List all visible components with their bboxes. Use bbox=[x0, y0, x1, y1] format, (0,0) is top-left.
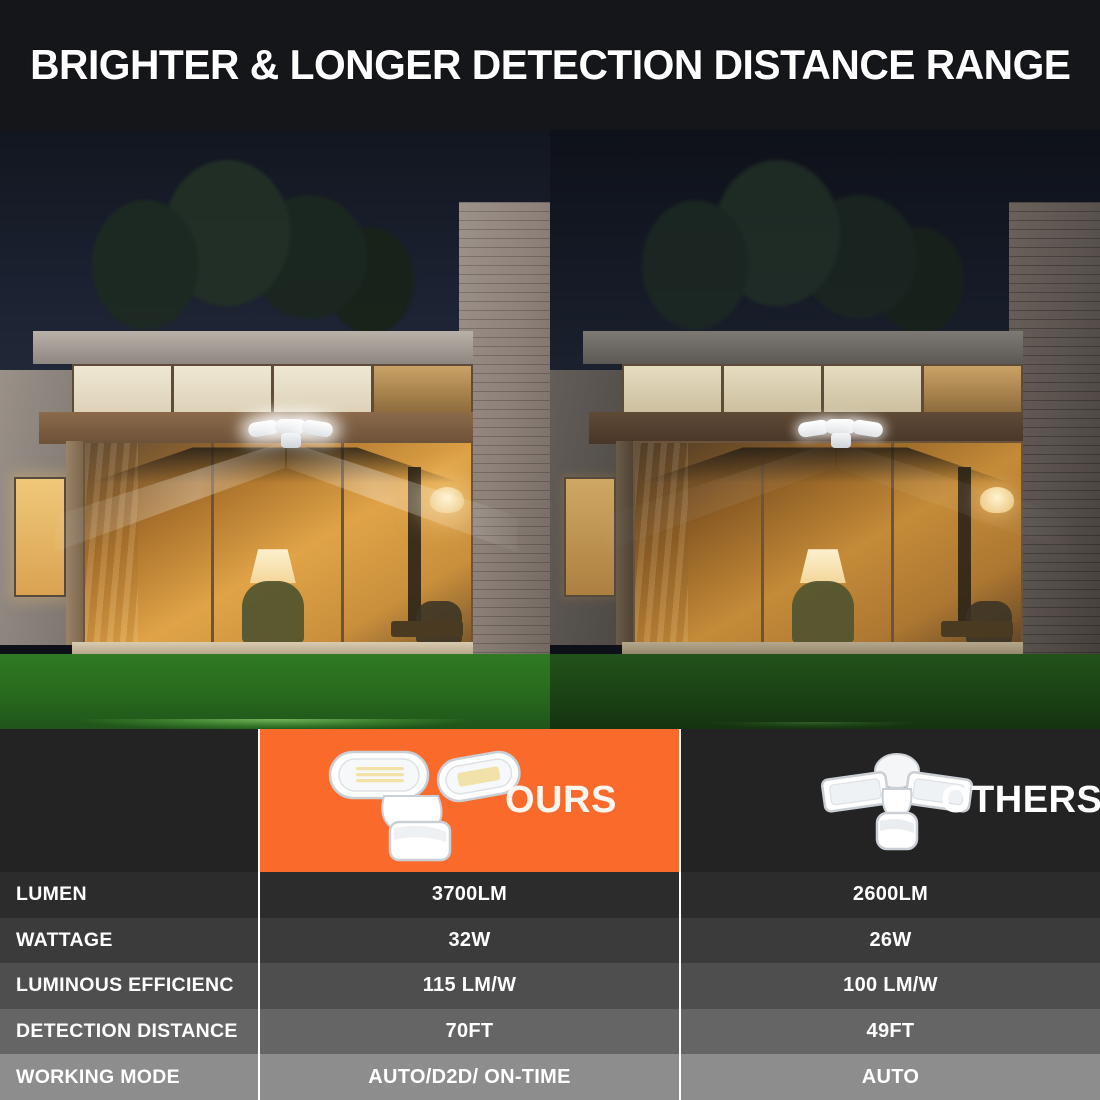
lawn bbox=[550, 654, 1100, 729]
pendant-lamp bbox=[980, 487, 1014, 513]
title-band: BRIGHTER & LONGER DETECTION DISTANCE RAN… bbox=[0, 0, 1100, 130]
table-lamp bbox=[800, 549, 846, 583]
clerestory-windows bbox=[72, 364, 474, 415]
motion-sensor bbox=[831, 433, 851, 448]
lawn bbox=[0, 654, 550, 729]
table-row: WORKING MODE AUTO/D2D/ ON-TIME AUTO bbox=[0, 1054, 1100, 1100]
vertical-post bbox=[66, 441, 84, 645]
roof-slab bbox=[583, 331, 1023, 364]
product-comparison-poster: BRIGHTER & LONGER DETECTION DISTANCE RAN… bbox=[0, 0, 1100, 1100]
comparison-table: OURS bbox=[0, 729, 1100, 1100]
ours-value: 115 LM/W bbox=[258, 963, 681, 1009]
lawn-light-pool bbox=[671, 722, 957, 729]
transom-pane bbox=[724, 366, 824, 413]
spec-label: WORKING MODE bbox=[0, 1054, 258, 1100]
vertical-post bbox=[616, 441, 634, 645]
interior-column bbox=[958, 467, 971, 623]
interior-column bbox=[408, 467, 421, 623]
armchair bbox=[792, 581, 854, 643]
table-row: WATTAGE 32W 26W bbox=[0, 918, 1100, 964]
spec-label: LUMINOUS EFFICIENC bbox=[0, 963, 258, 1009]
page-title: BRIGHTER & LONGER DETECTION DISTANCE RAN… bbox=[30, 41, 1070, 89]
others-header-cell: OTHERS bbox=[681, 729, 1100, 872]
transom-pane bbox=[174, 366, 274, 413]
treeline bbox=[77, 142, 418, 340]
transom-pane bbox=[274, 366, 374, 413]
table-lamp bbox=[250, 549, 296, 583]
photo-comparison-strip bbox=[0, 130, 1100, 729]
ours-value: 32W bbox=[258, 918, 681, 964]
bench bbox=[941, 621, 1013, 637]
table-row: LUMINOUS EFFICIENC 115 LM/W 100 LM/W bbox=[0, 963, 1100, 1009]
roof-slab bbox=[33, 331, 473, 364]
transom-pane bbox=[924, 366, 1021, 413]
motion-sensor bbox=[281, 433, 301, 448]
ours-value: 70FT bbox=[258, 1009, 681, 1055]
transom-pane bbox=[374, 366, 471, 413]
transom-pane bbox=[624, 366, 724, 413]
others-value: 26W bbox=[681, 918, 1100, 964]
treeline bbox=[627, 142, 968, 340]
spec-label: WATTAGE bbox=[0, 918, 258, 964]
clerestory-windows bbox=[622, 364, 1024, 415]
ours-value: 3700LM bbox=[258, 872, 681, 918]
lawn-light-pool bbox=[33, 719, 517, 729]
lamp-head-right bbox=[851, 418, 884, 438]
security-light-fixture bbox=[798, 421, 882, 447]
bench bbox=[391, 621, 463, 637]
ours-header-cell: OURS bbox=[258, 729, 681, 872]
table-row: LUMEN 3700LM 2600LM bbox=[0, 872, 1100, 918]
lamp-head-right bbox=[301, 418, 334, 438]
spec-label: DETECTION DISTANCE bbox=[0, 1009, 258, 1055]
spec-header-cell bbox=[0, 729, 258, 872]
transom-pane bbox=[824, 366, 924, 413]
armchair bbox=[242, 581, 304, 643]
table-header-row: OURS bbox=[0, 729, 1100, 872]
others-value: 49FT bbox=[681, 1009, 1100, 1055]
photo-ours-night-scene bbox=[0, 130, 550, 729]
left-window bbox=[14, 477, 66, 597]
others-value: AUTO bbox=[681, 1054, 1100, 1100]
others-value: 100 LM/W bbox=[681, 963, 1100, 1009]
transom-pane bbox=[74, 366, 174, 413]
spec-label: LUMEN bbox=[0, 872, 258, 918]
photo-others-night-scene bbox=[550, 130, 1100, 729]
others-value: 2600LM bbox=[681, 872, 1100, 918]
ours-value: AUTO/D2D/ ON-TIME bbox=[258, 1054, 681, 1100]
lamp-head-center bbox=[825, 419, 856, 434]
lamp-head-center bbox=[275, 419, 306, 434]
table-row: DETECTION DISTANCE 70FT 49FT bbox=[0, 1009, 1100, 1055]
left-window bbox=[564, 477, 616, 597]
security-light-fixture bbox=[248, 421, 332, 447]
pendant-lamp bbox=[430, 487, 464, 513]
ours-label: OURS bbox=[505, 779, 617, 822]
others-label: OTHERS bbox=[941, 779, 1100, 822]
